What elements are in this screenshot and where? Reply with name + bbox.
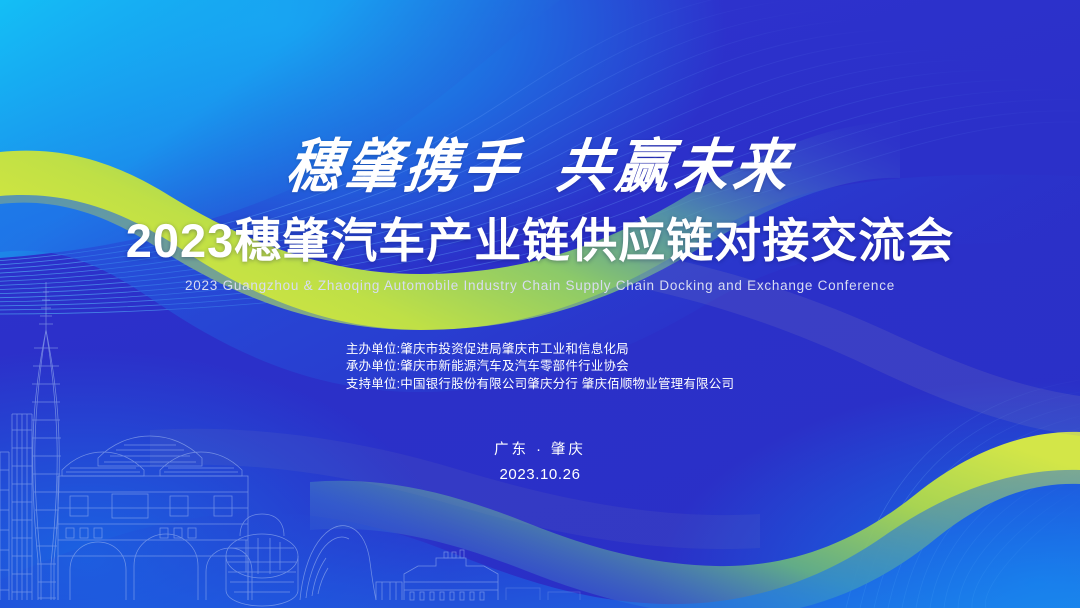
page-subtitle: 2023 Guangzhou & Zhaoqing Automobile Ind… [185, 278, 895, 293]
organizer-line: 承办单位:肇庆市新能源汽车及汽车零部件行业协会 [346, 358, 629, 376]
calligraphy-slogan-left: 穗肇携手 [283, 131, 527, 200]
organizer-block: 主办单位:肇庆市投资促进局肇庆市工业和信息化局 承办单位:肇庆市新能源汽车及汽车… [346, 341, 734, 394]
calligraphy-slogan-right: 共赢未来 [553, 131, 797, 200]
calligraphy-slogan: 穗肇携手共赢未来 [283, 136, 797, 197]
banner-content: 穗肇携手共赢未来 2023穗肇汽车产业链供应链对接交流会 2023 Guangz… [0, 0, 1080, 608]
event-location: 广东 · 肇庆 [494, 440, 586, 462]
page-title: 2023穗肇汽车产业链供应链对接交流会 [126, 217, 955, 264]
organizer-line: 主办单位:肇庆市投资促进局肇庆市工业和信息化局 [346, 341, 629, 359]
conference-banner: 穗肇携手共赢未来 2023穗肇汽车产业链供应链对接交流会 2023 Guangz… [0, 0, 1080, 608]
event-date: 2023.10.26 [499, 464, 580, 487]
organizer-line: 支持单位:中国银行股份有限公司肇庆分行 肇庆佰顺物业管理有限公司 [346, 376, 734, 394]
event-meta: 广东 · 肇庆 2023.10.26 [494, 440, 586, 486]
